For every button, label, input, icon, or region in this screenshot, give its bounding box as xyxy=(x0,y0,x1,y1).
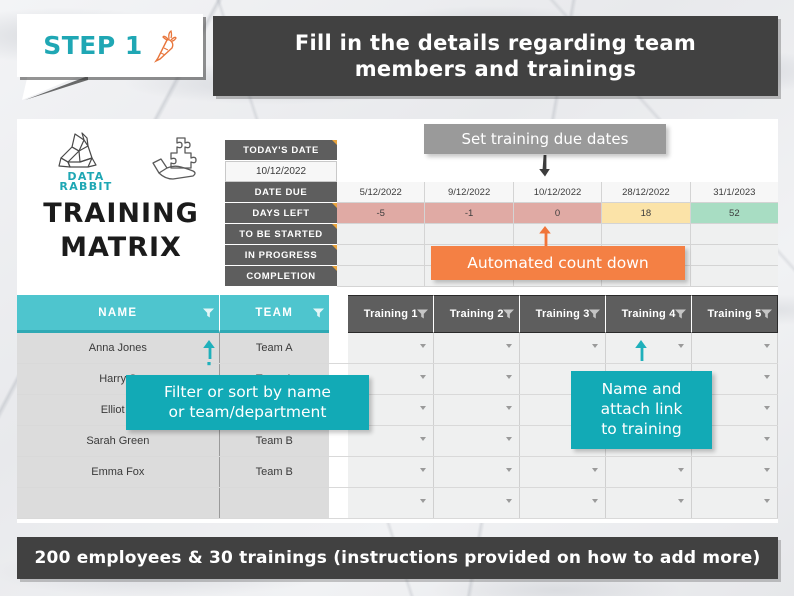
cell-training-2[interactable] xyxy=(434,364,520,394)
label-todays-date: TODAY'S DATE xyxy=(225,140,337,161)
row-gap xyxy=(329,333,348,363)
up-arrow-sort-name-icon xyxy=(202,340,216,366)
column-header-training-5-label: Training 5 xyxy=(708,308,762,320)
step-label: STEP 1 xyxy=(43,31,143,60)
label-completion: COMPLETION xyxy=(225,266,337,287)
cell-training-4[interactable] xyxy=(606,488,692,518)
days-left-cell: 52 xyxy=(691,203,778,224)
footer-banner-text: 200 employees & 30 trainings (instructio… xyxy=(35,548,761,568)
header-banner-text: Fill in the details regarding team membe… xyxy=(295,30,696,83)
column-header-team[interactable]: TEAM xyxy=(220,295,329,333)
top-label-column: TODAY'S DATE 10/12/2022 DATE DUE DAYS LE… xyxy=(225,140,337,287)
date-due-cell[interactable]: 28/12/2022 xyxy=(602,182,690,203)
table-row: Emma Fox Team B xyxy=(17,457,778,488)
completion-cell xyxy=(337,266,425,287)
filter-icon[interactable] xyxy=(313,308,324,317)
days-left-cell: 18 xyxy=(602,203,690,224)
hand-holding-puzzle-icon xyxy=(143,135,209,187)
days-left-cell: -1 xyxy=(425,203,513,224)
label-to-be-started: TO BE STARTED xyxy=(225,224,337,245)
label-days-left: DAYS LEFT xyxy=(225,203,337,224)
callout-filter-line-2: or team/department xyxy=(164,403,331,422)
spreadsheet-panel: DATA RABBIT TRAINING MATRIX TODAY'S DATE… xyxy=(17,119,778,523)
callout-filter-line-1: Filter or sort by name xyxy=(164,383,331,402)
date-due-cell[interactable]: 5/12/2022 xyxy=(337,182,425,203)
callout-set-due-dates-text: Set training due dates xyxy=(462,130,629,148)
page-title: TRAINING MATRIX xyxy=(17,197,225,265)
callout-name-attach-link: Name and attach link to training xyxy=(571,371,712,449)
date-due-cell[interactable]: 10/12/2022 xyxy=(514,182,602,203)
column-header-training-1[interactable]: Training 1 xyxy=(348,295,434,333)
cell-training-1[interactable] xyxy=(348,457,434,487)
column-header-training-3[interactable]: Training 3 xyxy=(520,295,606,333)
cell-name[interactable]: Anna Jones xyxy=(17,333,220,363)
logo-line-2: RABBIT xyxy=(41,182,131,192)
row-gap xyxy=(329,426,348,456)
cell-name[interactable] xyxy=(17,488,220,518)
step-badge: STEP 1 xyxy=(17,14,203,77)
days-left-row: -5 -1 0 18 52 xyxy=(337,203,778,224)
cell-training-2[interactable] xyxy=(434,426,520,456)
row-gap xyxy=(329,488,348,518)
filter-icon[interactable] xyxy=(675,310,686,319)
logo-row: DATA RABBIT xyxy=(41,131,221,193)
origami-rabbit-icon xyxy=(51,131,107,175)
callout-filter-sort: Filter or sort by name or team/departmen… xyxy=(126,375,369,430)
todays-date-value[interactable]: 10/12/2022 xyxy=(225,161,337,182)
column-header-name-label: NAME xyxy=(98,307,137,319)
to-be-started-cell xyxy=(425,224,513,245)
cell-training-3[interactable] xyxy=(520,333,606,363)
cell-training-1[interactable] xyxy=(348,488,434,518)
column-header-training-4[interactable]: Training 4 xyxy=(606,295,692,333)
to-be-started-row xyxy=(337,224,778,245)
days-left-cell: 0 xyxy=(514,203,602,224)
cell-name[interactable]: Sarah Green xyxy=(17,426,220,456)
cell-team[interactable]: Team B xyxy=(220,457,329,487)
to-be-started-cell xyxy=(602,224,690,245)
column-header-training-5[interactable]: Training 5 xyxy=(692,295,778,333)
carrot-icon xyxy=(151,29,177,63)
cell-training-2[interactable] xyxy=(434,395,520,425)
callout-set-due-dates: Set training due dates xyxy=(424,124,666,154)
callout-name-line-3: to training xyxy=(601,420,683,440)
label-date-due: DATE DUE xyxy=(225,182,337,203)
header-line-1: Fill in the details regarding team xyxy=(295,30,696,56)
cell-training-4[interactable] xyxy=(606,333,692,363)
callout-automated-count-down: Automated count down xyxy=(431,246,685,280)
to-be-started-cell xyxy=(691,224,778,245)
cell-training-3[interactable] xyxy=(520,488,606,518)
cell-training-2[interactable] xyxy=(434,488,520,518)
date-due-cell[interactable]: 31/1/2023 xyxy=(691,182,778,203)
table-row: Anna Jones Team A xyxy=(17,333,778,364)
data-rabbit-logo-text: DATA RABBIT xyxy=(41,172,131,192)
table-header-row: NAME TEAM Training 1 Training 2 xyxy=(17,295,778,333)
column-header-name[interactable]: NAME xyxy=(17,295,220,333)
cell-team[interactable]: Team B xyxy=(220,426,329,456)
in-progress-cell xyxy=(691,245,778,266)
cell-training-2[interactable] xyxy=(434,333,520,363)
to-be-started-cell xyxy=(514,224,602,245)
header-gap xyxy=(329,295,348,333)
column-header-training-3-label: Training 3 xyxy=(536,308,590,320)
cell-training-5[interactable] xyxy=(692,457,778,487)
callout-filter-sort-text: Filter or sort by name or team/departmen… xyxy=(164,383,331,422)
title-line-2: MATRIX xyxy=(17,231,225,265)
table-row xyxy=(17,488,778,519)
to-be-started-cell xyxy=(337,224,425,245)
up-arrow-count-down-icon xyxy=(538,226,552,246)
cell-training-1[interactable] xyxy=(348,426,434,456)
callout-name-attach-link-text: Name and attach link to training xyxy=(601,380,683,439)
speech-bubble-tail xyxy=(22,74,102,100)
row-gap xyxy=(329,457,348,487)
cell-training-5[interactable] xyxy=(692,333,778,363)
column-header-training-2-label: Training 2 xyxy=(450,308,504,320)
cell-training-5[interactable] xyxy=(692,488,778,518)
filter-icon[interactable] xyxy=(417,310,428,319)
cell-training-1[interactable] xyxy=(348,333,434,363)
filter-icon[interactable] xyxy=(503,310,514,319)
header-line-2: members and trainings xyxy=(295,56,696,82)
filter-icon[interactable] xyxy=(761,310,772,319)
brand-block: DATA RABBIT TRAINING MATRIX xyxy=(17,119,225,289)
in-progress-cell xyxy=(337,245,425,266)
cell-name[interactable]: Emma Fox xyxy=(17,457,220,487)
callout-name-line-1: Name and xyxy=(601,380,683,400)
title-line-1: TRAINING xyxy=(17,197,225,231)
date-due-row: 5/12/2022 9/12/2022 10/12/2022 28/12/202… xyxy=(337,182,778,203)
cell-training-4[interactable] xyxy=(606,457,692,487)
days-left-cell: -5 xyxy=(337,203,425,224)
cell-training-2[interactable] xyxy=(434,457,520,487)
cell-team[interactable]: Team A xyxy=(220,333,329,363)
callout-automated-count-down-text: Automated count down xyxy=(467,254,648,272)
cell-training-3[interactable] xyxy=(520,457,606,487)
column-header-training-4-label: Training 4 xyxy=(622,308,676,320)
down-arrow-due-dates-icon xyxy=(538,155,552,177)
header-banner: Fill in the details regarding team membe… xyxy=(213,16,778,96)
footer-banner: 200 employees & 30 trainings (instructio… xyxy=(17,537,778,579)
callout-name-line-2: attach link xyxy=(601,400,683,420)
up-arrow-training-column-icon xyxy=(634,340,648,362)
column-header-training-1-label: Training 1 xyxy=(364,308,418,320)
completion-cell xyxy=(691,266,778,287)
cell-team[interactable] xyxy=(220,488,329,518)
filter-icon[interactable] xyxy=(589,310,600,319)
column-header-training-2[interactable]: Training 2 xyxy=(434,295,520,333)
column-header-team-label: TEAM xyxy=(255,307,293,319)
label-in-progress: IN PROGRESS xyxy=(225,245,337,266)
date-due-cell[interactable]: 9/12/2022 xyxy=(425,182,513,203)
filter-icon[interactable] xyxy=(203,308,214,317)
